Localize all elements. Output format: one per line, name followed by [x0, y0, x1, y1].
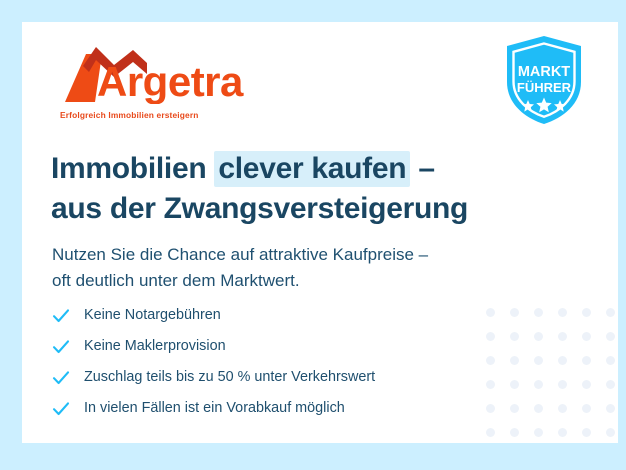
benefits-list: Keine NotargebührenKeine Maklerprovision…	[52, 300, 522, 424]
subheadline-line2: oft deutlich unter dem Marktwert.	[52, 268, 562, 294]
decorative-dot	[606, 428, 615, 437]
list-item: Keine Notargebühren	[52, 300, 522, 331]
decorative-dot	[558, 332, 567, 341]
list-item-label: Keine Maklerprovision	[84, 339, 226, 353]
decorative-dot	[582, 332, 591, 341]
headline-part2: –	[410, 152, 434, 185]
decorative-dot	[582, 404, 591, 413]
decorative-dot	[510, 428, 519, 437]
argetra-roof-mark-icon: Argetra	[59, 44, 259, 104]
markt-fuehrer-badge: MARKT FÜHRER	[503, 34, 585, 126]
decorative-dot	[606, 404, 615, 413]
decorative-dot	[534, 332, 543, 341]
list-item-label: Keine Notargebühren	[84, 308, 221, 322]
decorative-dot	[606, 356, 615, 365]
outer-frame: Argetra Erfolgreich Immobilien ersteiger…	[0, 0, 626, 470]
subheadline-line1: Nutzen Sie die Chance auf attraktive Kau…	[52, 245, 428, 264]
headline-highlight: clever kaufen	[214, 151, 410, 187]
decorative-dot	[606, 332, 615, 341]
list-item: Keine Maklerprovision	[52, 331, 522, 362]
decorative-dot	[558, 308, 567, 317]
decorative-dot	[582, 308, 591, 317]
subheadline: Nutzen Sie die Chance auf attraktive Kau…	[52, 242, 562, 295]
list-item: Zuschlag teils bis zu 50 % unter Verkehr…	[52, 362, 522, 393]
decorative-dot	[534, 308, 543, 317]
check-icon	[52, 307, 70, 325]
brand-logo: Argetra Erfolgreich Immobilien ersteiger…	[59, 44, 259, 124]
check-icon	[52, 369, 70, 387]
decorative-dot	[558, 356, 567, 365]
decorative-dot	[582, 380, 591, 389]
decorative-dot	[582, 428, 591, 437]
decorative-dot	[486, 428, 495, 437]
list-item-label: Zuschlag teils bis zu 50 % unter Verkehr…	[84, 370, 375, 384]
promo-card: Argetra Erfolgreich Immobilien ersteiger…	[22, 22, 618, 443]
decorative-dot	[558, 380, 567, 389]
list-item: In vielen Fällen ist ein Vorabkauf mögli…	[52, 393, 522, 424]
badge-line1: MARKT	[518, 64, 570, 80]
headline-line2: aus der Zwangsversteigerung	[51, 190, 581, 228]
page-title: Immobilien clever kaufen – aus der Zwang…	[51, 150, 581, 229]
decorative-dot	[534, 356, 543, 365]
decorative-dot	[558, 404, 567, 413]
decorative-dot	[558, 428, 567, 437]
decorative-dot	[606, 380, 615, 389]
decorative-dot	[534, 428, 543, 437]
svg-text:Argetra: Argetra	[97, 58, 244, 104]
brand-tagline: Erfolgreich Immobilien ersteigern	[60, 110, 199, 120]
decorative-dot	[534, 404, 543, 413]
check-icon	[52, 400, 70, 418]
decorative-dot	[582, 356, 591, 365]
decorative-dot	[534, 380, 543, 389]
decorative-dot	[606, 308, 615, 317]
headline-part1: Immobilien	[51, 152, 214, 185]
list-item-label: In vielen Fällen ist ein Vorabkauf mögli…	[84, 401, 345, 415]
badge-line2: FÜHRER	[517, 80, 572, 95]
check-icon	[52, 338, 70, 356]
